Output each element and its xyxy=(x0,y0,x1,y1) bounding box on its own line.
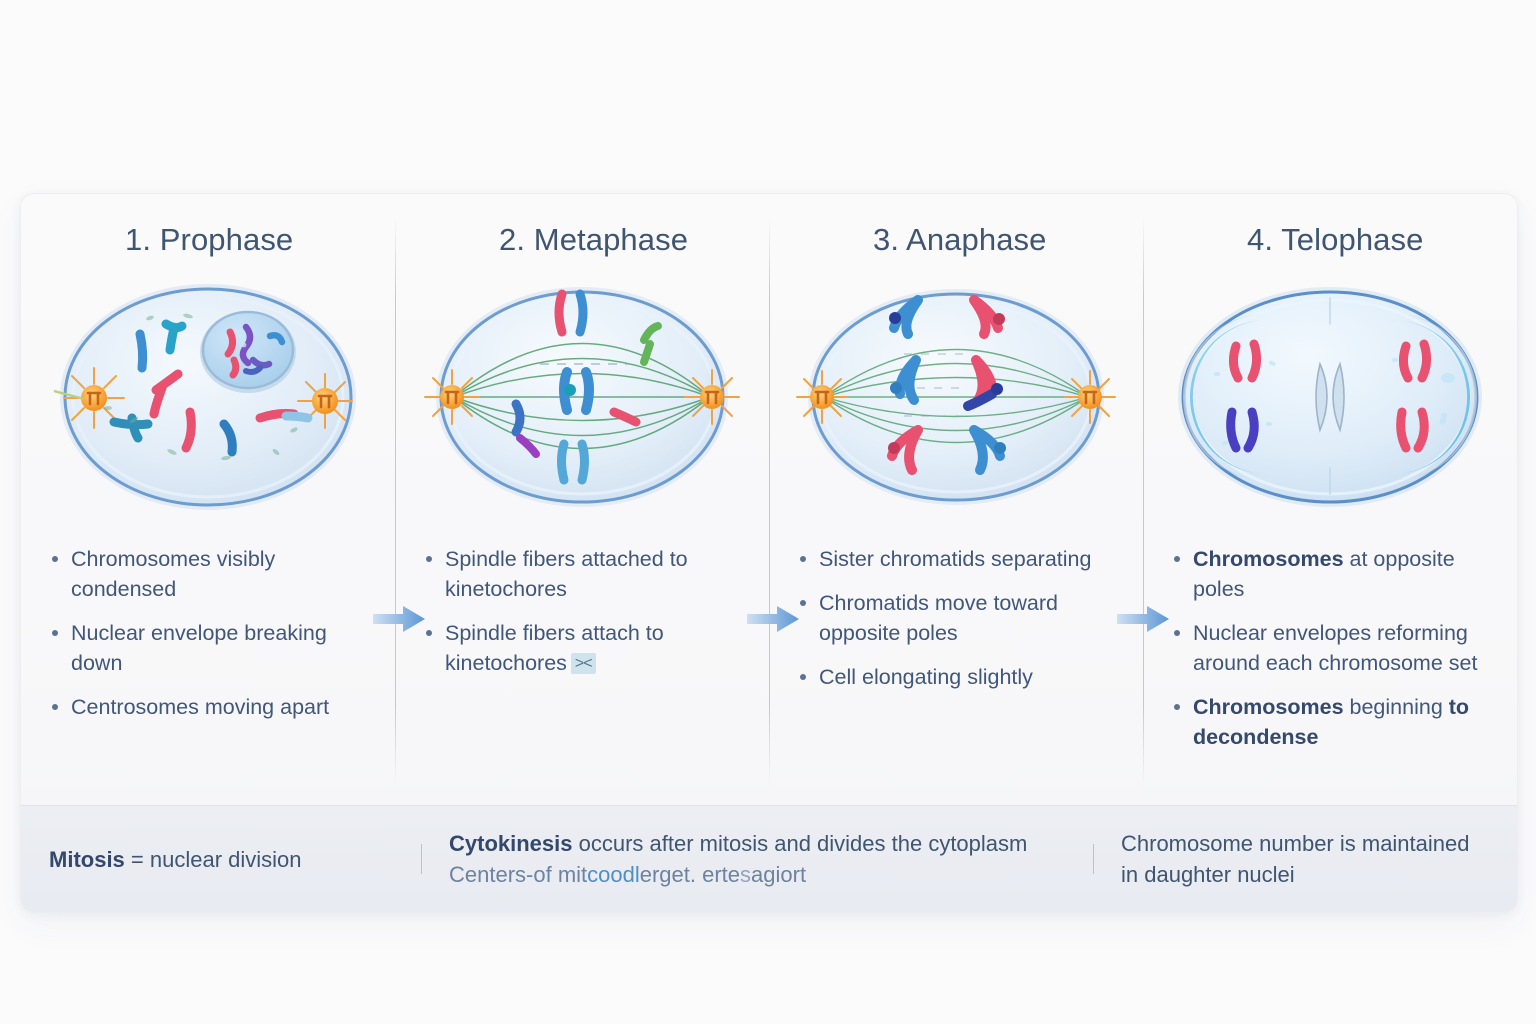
phase-panel-telophase[interactable]: 4. Telophase xyxy=(1143,194,1517,806)
list-item: Spindle fibers attached to kinetochores xyxy=(423,544,751,604)
list-item: Spindle fibers attach to kinetochores>< xyxy=(423,618,751,678)
telophase-bullets: Chromosomes at opposite poles Nuclear en… xyxy=(1161,544,1499,752)
list-item: Chromosomes visibly condensed xyxy=(49,544,377,604)
list-item-bold: Chromosomes xyxy=(1193,695,1344,719)
metaphase-bullets: Spindle fibers attached to kinetochores … xyxy=(413,544,751,678)
garble-fade: s xyxy=(740,862,751,887)
phase-panel-prophase[interactable]: 1. Prophase xyxy=(21,194,395,806)
list-item: Chromatids move toward opposite poles xyxy=(797,588,1125,648)
centrosome-right xyxy=(685,370,739,424)
inline-chip[interactable]: >< xyxy=(571,653,596,674)
footer-cell-mitosis: Mitosis = nuclear division xyxy=(21,844,421,875)
anaphase-bullets: Sister chromatids separating Chromatids … xyxy=(787,544,1125,692)
phase-title-prophase: 1. Prophase xyxy=(39,216,377,264)
list-item-text: Spindle fibers attach to kinetochores xyxy=(445,621,664,675)
metaphase-cell-illustration xyxy=(413,272,751,522)
footer-cell-cytokinesis: Cytokinesis occurs after mitosis and div… xyxy=(421,828,1093,890)
list-item-bold: Chromosomes xyxy=(1193,547,1344,571)
phases-row: 1. Prophase xyxy=(21,194,1517,806)
garble-prefix: Centers-of mit xyxy=(449,862,587,887)
footer-line-1: Cytokinesis occurs after mitosis and div… xyxy=(449,828,1065,859)
diagram-canvas: 1. Prophase xyxy=(0,0,1536,1024)
prophase-bullets: Chromosomes visibly condensed Nuclear en… xyxy=(39,544,377,722)
list-item: Nuclear envelope breaking down xyxy=(49,618,377,678)
footer-bold: Mitosis xyxy=(49,847,125,872)
nucleus xyxy=(200,311,296,393)
footer-cell-chromosome-number: Chromosome number is maintained in daugh… xyxy=(1093,828,1517,890)
centrosome-left xyxy=(425,370,479,424)
phase-panel-metaphase[interactable]: 2. Metaphase xyxy=(395,194,769,806)
metaphase-cell-svg xyxy=(422,272,742,522)
prophase-cell-illustration xyxy=(39,272,377,522)
telophase-cell-svg xyxy=(1170,272,1490,522)
list-item: Chromosomes at opposite poles xyxy=(1171,544,1499,604)
prophase-cell-svg xyxy=(48,272,368,522)
garble-suffix: erget. erte xyxy=(640,862,740,887)
footer-bold: Cytokinesis xyxy=(449,831,573,856)
footer-text: occurs after mitosis and divides the cyt… xyxy=(573,831,1028,856)
list-item: Cell elongating slightly xyxy=(797,662,1125,692)
list-item-text: beginning xyxy=(1344,695,1449,719)
mitosis-card: 1. Prophase xyxy=(20,193,1518,913)
list-item: Chromosomes beginning to decondense xyxy=(1171,692,1499,752)
centrosome-right xyxy=(1065,371,1115,423)
phase-panel-anaphase[interactable]: 3. Anaphase xyxy=(769,194,1143,806)
list-item: Nuclear envelopes reforming around each … xyxy=(1171,618,1499,678)
anaphase-cell-illustration xyxy=(787,272,1125,522)
list-item: Sister chromatids separating xyxy=(797,544,1125,574)
telophase-cell-illustration xyxy=(1161,272,1499,522)
list-item: Centrosomes moving apart xyxy=(49,692,377,722)
phase-title-anaphase: 3. Anaphase xyxy=(787,216,1125,264)
garble-tail: agiort xyxy=(751,862,806,887)
footer-line-2-garbled: Centers-of mitcoodlerget. ertesagiort xyxy=(449,859,1065,890)
anaphase-cell-svg xyxy=(796,272,1116,522)
summary-footer: Mitosis = nuclear division Cytokinesis o… xyxy=(21,805,1517,912)
garble-blue: coodl xyxy=(587,862,640,887)
footer-text: Chromosome number is maintained in daugh… xyxy=(1121,831,1470,887)
phase-title-telophase: 4. Telophase xyxy=(1161,216,1499,264)
footer-text: = nuclear division xyxy=(125,847,302,872)
phase-title-metaphase: 2. Metaphase xyxy=(413,216,751,264)
